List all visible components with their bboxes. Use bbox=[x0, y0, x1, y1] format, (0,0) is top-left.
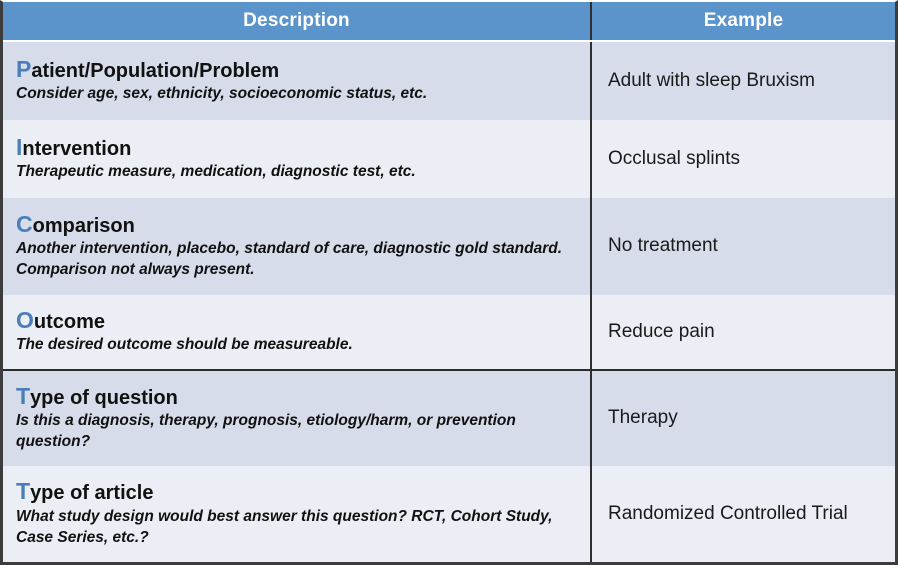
cell-example: Reduce pain bbox=[592, 295, 895, 369]
pico-detail: Consider age, sex, ethnicity, socioecono… bbox=[16, 84, 578, 105]
pico-initial-letter: P bbox=[16, 56, 31, 82]
column-header-description-label: Description bbox=[243, 10, 350, 32]
cell-example: No treatment bbox=[592, 198, 895, 295]
example-text: Reduce pain bbox=[608, 320, 881, 345]
column-header-example: Example bbox=[592, 2, 895, 40]
example-text: Therapy bbox=[608, 406, 881, 431]
pico-initial-letter: T bbox=[16, 383, 30, 409]
pico-initial-letter: C bbox=[16, 211, 33, 237]
cell-description: Comparison Another intervention, placebo… bbox=[3, 198, 592, 295]
table-row: Type of question Is this a diagnosis, th… bbox=[3, 369, 895, 466]
pico-term: Type of question bbox=[16, 384, 578, 410]
pico-detail: Is this a diagnosis, therapy, prognosis,… bbox=[16, 411, 578, 453]
pico-detail: Another intervention, placebo, standard … bbox=[16, 239, 578, 281]
example-text: No treatment bbox=[608, 234, 881, 259]
table-row: Outcome The desired outcome should be me… bbox=[3, 295, 895, 369]
table-row: Comparison Another intervention, placebo… bbox=[3, 198, 895, 295]
pico-term-rest: ntervention bbox=[22, 138, 131, 160]
cell-example: Occlusal splints bbox=[592, 120, 895, 198]
pico-term-rest: omparison bbox=[33, 215, 135, 237]
table-body: Patient/Population/Problem Consider age,… bbox=[3, 42, 895, 562]
table-row: Intervention Therapeutic measure, medica… bbox=[3, 120, 895, 198]
column-header-description: Description bbox=[3, 2, 592, 40]
pico-term: Outcome bbox=[16, 308, 578, 334]
example-text: Occlusal splints bbox=[608, 147, 881, 172]
cell-description: Intervention Therapeutic measure, medica… bbox=[3, 120, 592, 198]
cell-description: Type of question Is this a diagnosis, th… bbox=[3, 371, 592, 466]
table-row: Patient/Population/Problem Consider age,… bbox=[3, 42, 895, 120]
pico-term: Type of article bbox=[16, 479, 578, 505]
pico-term: Comparison bbox=[16, 212, 578, 238]
example-text: Randomized Controlled Trial bbox=[608, 502, 881, 527]
column-header-example-label: Example bbox=[704, 10, 784, 32]
pico-detail: The desired outcome should be measureabl… bbox=[16, 335, 578, 356]
pico-term-rest: ype of article bbox=[30, 482, 153, 504]
cell-example: Randomized Controlled Trial bbox=[592, 466, 895, 562]
pico-term-rest: atient/Population/Problem bbox=[31, 60, 279, 82]
pico-initial-letter: O bbox=[16, 307, 34, 333]
pico-initial-letter: T bbox=[16, 478, 30, 504]
example-text: Adult with sleep Bruxism bbox=[608, 69, 881, 94]
cell-example: Therapy bbox=[592, 371, 895, 466]
pico-detail: What study design would best answer this… bbox=[16, 507, 578, 549]
pico-term-rest: ype of question bbox=[30, 387, 178, 409]
cell-example: Adult with sleep Bruxism bbox=[592, 42, 895, 120]
cell-description: Outcome The desired outcome should be me… bbox=[3, 295, 592, 369]
table-row: Type of article What study design would … bbox=[3, 466, 895, 562]
table-header-row: Description Example bbox=[3, 2, 895, 42]
pico-term: Intervention bbox=[16, 135, 578, 161]
pico-framework-table: Description Example Patient/Population/P… bbox=[0, 0, 898, 565]
cell-description: Patient/Population/Problem Consider age,… bbox=[3, 42, 592, 120]
pico-detail: Therapeutic measure, medication, diagnos… bbox=[16, 162, 578, 183]
pico-term: Patient/Population/Problem bbox=[16, 57, 578, 83]
pico-term-rest: utcome bbox=[34, 311, 105, 333]
cell-description: Type of article What study design would … bbox=[3, 466, 592, 562]
